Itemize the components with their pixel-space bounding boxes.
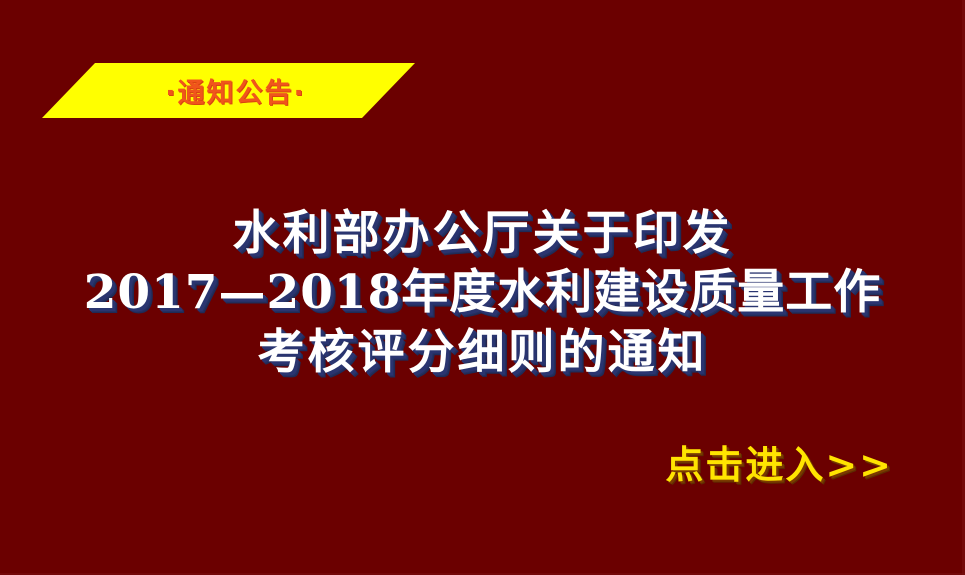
title-line-3: 考核评分细则的通知: [0, 325, 965, 380]
announcement-banner-page: ·通知公告· 水利部办公厅关于印发 2017—2018年度水利建设质量工作 考核…: [0, 0, 965, 575]
notice-category-banner: ·通知公告·: [42, 63, 415, 118]
page-title: 水利部办公厅关于印发 2017—2018年度水利建设质量工作 考核评分细则的通知: [0, 206, 965, 380]
title-line-2: 2017—2018年度水利建设质量工作: [0, 265, 965, 320]
title-line-1: 水利部办公厅关于印发: [0, 206, 965, 261]
enter-link-container: 点击进入>>: [0, 434, 965, 489]
banner-label: ·通知公告·: [42, 63, 415, 118]
click-to-enter-link[interactable]: 点击进入>>: [665, 434, 893, 489]
